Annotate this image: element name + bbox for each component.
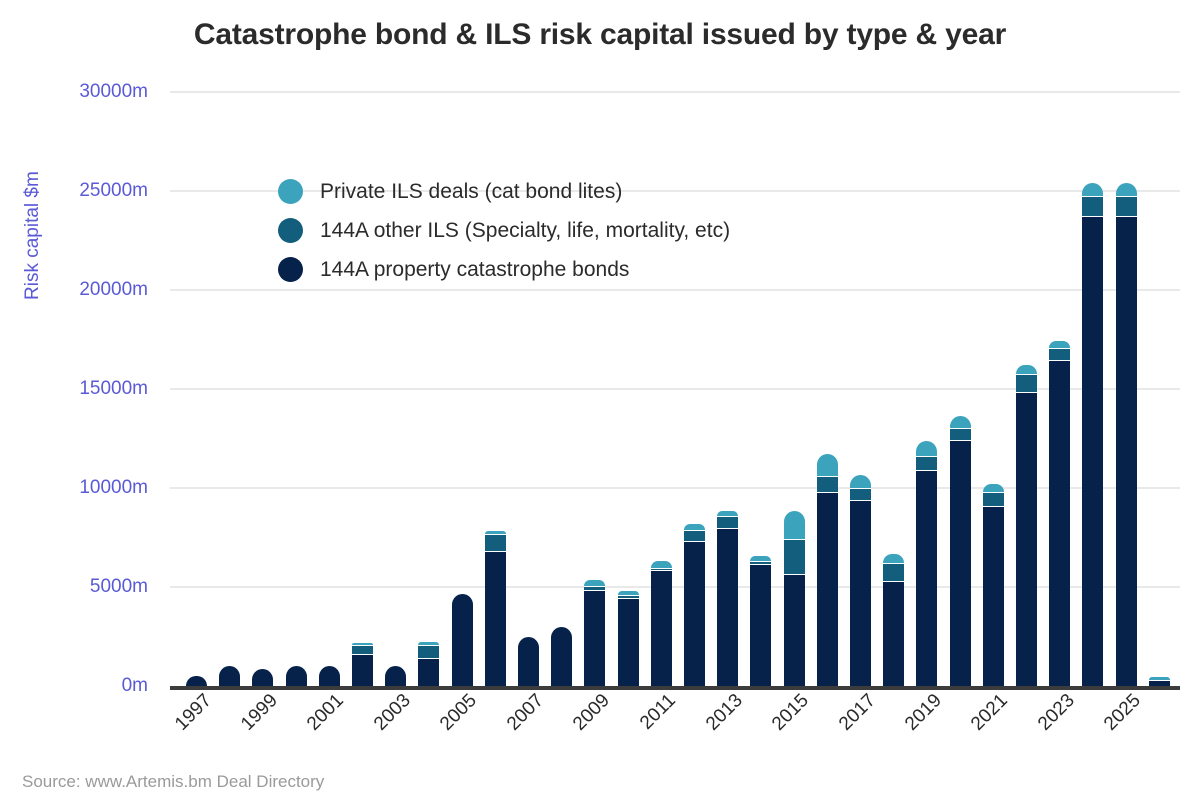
legend-item[interactable]: Private ILS deals (cat bond lites) — [278, 172, 730, 211]
x-tick-label: 2025 — [1081, 690, 1146, 755]
bar-segment-private-ils[interactable] — [651, 561, 672, 568]
bar-segment-private-ils[interactable] — [983, 484, 1004, 492]
bar-segment-private-ils[interactable] — [618, 591, 639, 595]
bar-segment-property-cat[interactable] — [916, 470, 937, 686]
bar-segment-other-ils[interactable] — [352, 645, 373, 654]
legend-swatch-private-ils-icon — [278, 179, 303, 204]
bar-segment-other-ils[interactable] — [1016, 374, 1037, 392]
x-tick-label: 1999 — [217, 690, 282, 755]
bar-group[interactable] — [750, 556, 771, 686]
bar-segment-other-ils[interactable] — [983, 492, 1004, 506]
x-tick-label: 2007 — [483, 690, 548, 755]
x-tick-label: 2005 — [417, 690, 482, 755]
bar-segment-property-cat[interactable] — [452, 594, 473, 686]
bar-segment-other-ils[interactable] — [784, 539, 805, 575]
legend-label: Private ILS deals (cat bond lites) — [320, 180, 622, 204]
chart-root: Catastrophe bond & ILS risk capital issu… — [0, 0, 1200, 800]
y-tick-label: 20000m — [79, 279, 148, 301]
bar-segment-other-ils[interactable] — [916, 456, 937, 470]
bar-segment-property-cat[interactable] — [717, 528, 738, 686]
bar-segment-property-cat[interactable] — [1116, 216, 1137, 686]
bar-segment-private-ils[interactable] — [1049, 341, 1070, 349]
bar-segment-property-cat[interactable] — [1016, 392, 1037, 686]
bar-group[interactable] — [352, 643, 373, 686]
gridline — [170, 289, 1180, 291]
y-axis-tick-labels: 0m5000m10000m15000m20000m25000m30000m — [0, 92, 160, 686]
bar-group[interactable] — [551, 627, 572, 686]
bar-group[interactable] — [319, 666, 340, 686]
bar-segment-private-ils[interactable] — [1116, 183, 1137, 196]
bar-group[interactable] — [618, 591, 639, 686]
y-tick-label: 5000m — [90, 576, 148, 598]
bar-segment-property-cat[interactable] — [1082, 216, 1103, 686]
x-axis-tick-labels: 1997199920012003200520072009201120132015… — [0, 690, 1200, 760]
bar-group[interactable] — [883, 554, 904, 686]
legend-label: 144A property catastrophe bonds — [320, 258, 629, 282]
bar-segment-other-ils[interactable] — [418, 645, 439, 658]
bar-segment-private-ils[interactable] — [418, 642, 439, 645]
bar-group[interactable] — [252, 669, 273, 686]
bar-group[interactable] — [1016, 365, 1037, 686]
bar-group[interactable] — [418, 642, 439, 686]
bar-group[interactable] — [784, 511, 805, 686]
bar-group[interactable] — [186, 676, 207, 686]
bar-segment-other-ils[interactable] — [485, 534, 506, 552]
bar-segment-property-cat[interactable] — [219, 666, 240, 686]
bar-segment-property-cat[interactable] — [784, 574, 805, 686]
x-tick-label: 2009 — [549, 690, 614, 755]
y-tick-label: 25000m — [79, 180, 148, 202]
bar-segment-private-ils[interactable] — [916, 441, 937, 457]
bar-segment-other-ils[interactable] — [817, 476, 838, 492]
bar-segment-private-ils[interactable] — [1082, 183, 1103, 196]
x-tick-label: 2019 — [881, 690, 946, 755]
legend-item[interactable]: 144A other ILS (Specialty, life, mortali… — [278, 211, 730, 250]
x-tick-label: 2021 — [948, 690, 1013, 755]
bar-group[interactable] — [1082, 183, 1103, 686]
bar-segment-other-ils[interactable] — [1049, 348, 1070, 360]
bar-segment-other-ils[interactable] — [717, 516, 738, 528]
bar-group[interactable] — [485, 531, 506, 686]
bar-group[interactable] — [584, 580, 605, 686]
bar-segment-private-ils[interactable] — [784, 511, 805, 539]
source-note: Source: www.Artemis.bm Deal Directory — [22, 772, 324, 792]
bar-segment-property-cat[interactable] — [319, 666, 340, 686]
gridline — [170, 91, 1180, 93]
bar-group[interactable] — [1116, 183, 1137, 686]
legend-swatch-property-cat-icon — [278, 257, 303, 282]
x-tick-label: 2011 — [616, 690, 681, 755]
bar-segment-private-ils[interactable] — [1149, 677, 1170, 680]
bar-segment-other-ils[interactable] — [850, 488, 871, 500]
bar-group[interactable] — [1149, 677, 1170, 686]
bar-segment-property-cat[interactable] — [850, 500, 871, 686]
bar-group[interactable] — [286, 666, 307, 686]
bar-segment-property-cat[interactable] — [252, 669, 273, 686]
bar-segment-property-cat[interactable] — [950, 440, 971, 687]
bar-segment-property-cat[interactable] — [1049, 360, 1070, 686]
bar-segment-private-ils[interactable] — [1016, 365, 1037, 374]
bar-segment-other-ils[interactable] — [950, 428, 971, 440]
bar-segment-property-cat[interactable] — [385, 666, 406, 686]
bar-segment-property-cat[interactable] — [352, 654, 373, 686]
bar-group[interactable] — [850, 475, 871, 686]
legend-swatch-other-ils-icon — [278, 218, 303, 243]
bar-segment-private-ils[interactable] — [584, 580, 605, 586]
bar-segment-private-ils[interactable] — [684, 524, 705, 530]
bar-segment-other-ils[interactable] — [1116, 196, 1137, 216]
bar-segment-private-ils[interactable] — [883, 554, 904, 563]
bar-group[interactable] — [983, 484, 1004, 686]
chart-title: Catastrophe bond & ILS risk capital issu… — [0, 18, 1200, 52]
bar-segment-other-ils[interactable] — [883, 563, 904, 581]
bar-segment-other-ils[interactable] — [684, 530, 705, 542]
bar-segment-property-cat[interactable] — [684, 541, 705, 686]
y-tick-label: 30000m — [79, 81, 148, 103]
bar-segment-property-cat[interactable] — [618, 598, 639, 686]
chart-legend: Private ILS deals (cat bond lites)144A o… — [278, 172, 730, 289]
bar-segment-private-ils[interactable] — [817, 454, 838, 476]
y-tick-label: 15000m — [79, 378, 148, 400]
bar-segment-private-ils[interactable] — [850, 475, 871, 488]
bar-group[interactable] — [684, 524, 705, 686]
bar-segment-private-ils[interactable] — [717, 511, 738, 516]
legend-label: 144A other ILS (Specialty, life, mortali… — [320, 219, 730, 243]
bar-segment-private-ils[interactable] — [485, 531, 506, 534]
bar-group[interactable] — [452, 594, 473, 686]
bar-segment-property-cat[interactable] — [418, 658, 439, 686]
bar-segment-property-cat[interactable] — [518, 637, 539, 687]
bar-group[interactable] — [385, 666, 406, 686]
bar-segment-property-cat[interactable] — [817, 492, 838, 686]
x-tick-label: 2001 — [284, 690, 349, 755]
bar-group[interactable] — [651, 561, 672, 686]
bar-segment-property-cat[interactable] — [551, 627, 572, 686]
bar-group[interactable] — [518, 637, 539, 687]
bar-segment-property-cat[interactable] — [286, 666, 307, 686]
bar-segment-property-cat[interactable] — [750, 564, 771, 686]
bar-group[interactable] — [817, 454, 838, 686]
bar-segment-property-cat[interactable] — [584, 590, 605, 686]
bar-group[interactable] — [717, 511, 738, 686]
bar-group[interactable] — [916, 440, 937, 686]
bar-segment-private-ils[interactable] — [950, 416, 971, 428]
bar-group[interactable] — [1049, 341, 1070, 687]
x-tick-label: 1997 — [151, 690, 216, 755]
bar-segment-property-cat[interactable] — [883, 581, 904, 686]
x-tick-label: 2003 — [350, 690, 415, 755]
bar-segment-property-cat[interactable] — [651, 570, 672, 686]
bar-segment-property-cat[interactable] — [983, 506, 1004, 686]
y-tick-label: 10000m — [79, 477, 148, 499]
bar-segment-other-ils[interactable] — [1082, 196, 1103, 216]
bar-group[interactable] — [219, 666, 240, 686]
bar-segment-property-cat[interactable] — [186, 676, 207, 686]
x-tick-label: 2015 — [749, 690, 814, 755]
bar-segment-private-ils[interactable] — [750, 556, 771, 561]
x-tick-label: 2023 — [1014, 690, 1079, 755]
legend-item[interactable]: 144A property catastrophe bonds — [278, 250, 730, 289]
bar-segment-property-cat[interactable] — [485, 551, 506, 686]
bar-group[interactable] — [950, 416, 971, 686]
x-tick-label: 2013 — [682, 690, 747, 755]
x-tick-label: 2017 — [815, 690, 880, 755]
